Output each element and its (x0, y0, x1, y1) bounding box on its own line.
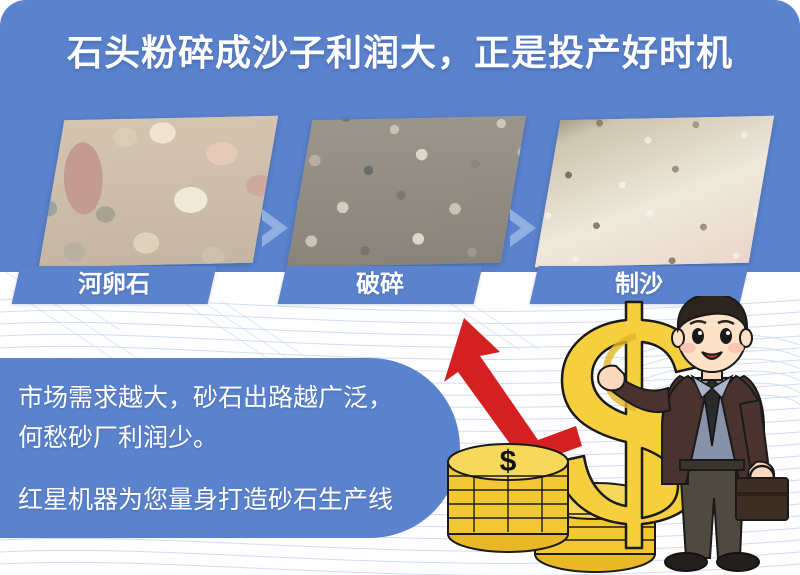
poster-canvas: 石头粉碎成沙子利润大，正是投产好时机 河卵石 破碎 制沙 (0, 0, 800, 575)
process-image-river-pebbles (39, 116, 278, 267)
process-label-river-pebbles: 河卵石 (12, 266, 217, 304)
chevron-right-icon (258, 206, 298, 250)
chevron-right-icon-2 (506, 206, 546, 250)
promo-line-2: 何愁砂厂利润少。 (18, 418, 218, 454)
coin-stack-icon-front: $ (448, 444, 568, 552)
promo-line-3: 红星机器为您量身打造砂石生产线 (18, 480, 393, 516)
process-label-text-1: 河卵石 (16, 266, 212, 304)
process-image-manufactured-sand (535, 116, 774, 267)
process-image-crushed-gravel (287, 116, 526, 267)
page-title: 石头粉碎成沙子利润大，正是投产好时机 (0, 24, 800, 76)
promo-line-1: 市场需求越大，砂石出路越广泛， (18, 378, 393, 414)
svg-text:$: $ (500, 445, 517, 478)
crushed-gravel-photo (287, 116, 526, 267)
river-pebbles-photo (39, 116, 278, 267)
manufactured-sand-photo (535, 116, 774, 267)
money-and-businessman-illustration: $ $ (430, 296, 800, 575)
